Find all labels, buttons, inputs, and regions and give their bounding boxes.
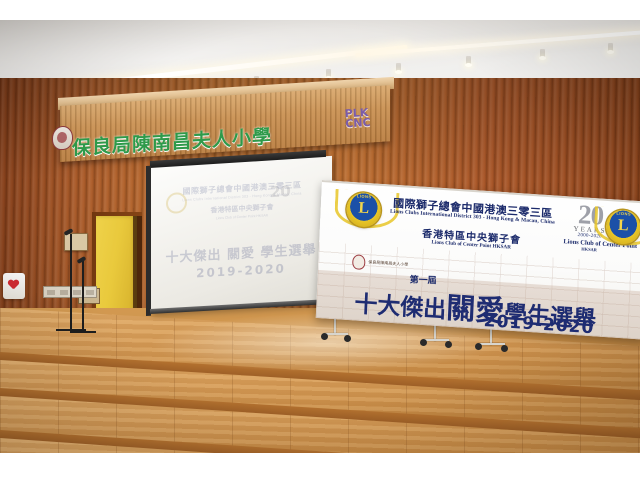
table-caster xyxy=(501,345,508,352)
letterbox-bottom xyxy=(0,453,640,480)
wall-plaque xyxy=(64,233,88,251)
heart-decoration xyxy=(3,273,25,299)
table-caster xyxy=(344,335,351,342)
banner-title-part1: 十大傑出 xyxy=(354,291,447,323)
hall-photograph: 保良局陳南昌夫人小學 PLK CNC 20 國際獅子總會中國港澳三零三區 Lio… xyxy=(0,20,640,453)
downlight xyxy=(608,43,613,52)
downlight xyxy=(540,49,545,58)
school-mini-name: 保良局陳南昌夫人小學 xyxy=(368,261,408,268)
downlight xyxy=(466,56,471,65)
microphone-stand-pole[interactable] xyxy=(70,234,72,330)
table-leg-foot xyxy=(478,343,505,345)
projected-header-text: 國際獅子總會中國港澳三零三區 Lions Clubs International… xyxy=(162,178,322,223)
projector-screen: 20 國際獅子總會中國港澳三零三區 Lions Clubs Internatio… xyxy=(150,156,332,313)
microphone-stand-pole[interactable] xyxy=(82,260,84,332)
school-crest-icon xyxy=(352,254,366,270)
downlight xyxy=(326,69,331,78)
heart-icon xyxy=(8,280,19,290)
downlight xyxy=(396,63,401,72)
school-crest-icon xyxy=(52,125,73,150)
photo-frame: 保良局陳南昌夫人小學 PLK CNC 20 國際獅子總會中國港澳三零三區 Lio… xyxy=(0,0,640,480)
plk-cnc-logo: PLK CNC xyxy=(344,107,393,130)
event-banner: 國際獅子總會中國港澳三零三區 Lions Clubs International… xyxy=(316,180,640,340)
table-caster xyxy=(420,339,427,346)
letterbox-top xyxy=(0,0,640,20)
table-caster xyxy=(445,341,452,348)
projected-main-title: 十大傑出 關愛 學生選舉 2019-2020 xyxy=(160,238,322,282)
table-caster xyxy=(475,343,482,350)
projector-screen-edge xyxy=(146,166,151,316)
table-caster xyxy=(321,333,328,340)
microphone-stand-base xyxy=(70,331,96,333)
